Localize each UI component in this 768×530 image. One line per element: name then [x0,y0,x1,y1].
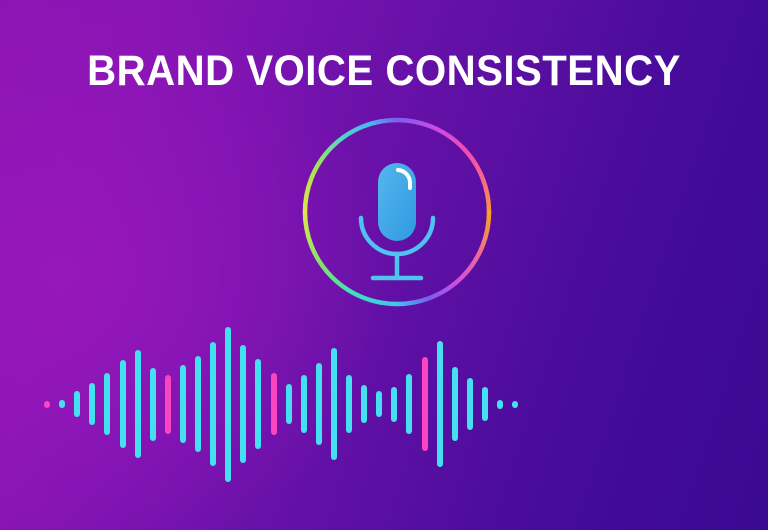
waveform-bar [437,341,443,467]
waveform-bar [422,357,428,451]
waveform-bar [44,401,50,408]
mic-badge [303,118,491,306]
waveform-bar [391,387,397,422]
waveform-bar [195,356,201,452]
waveform-bar [301,375,307,433]
waveform-bar [452,367,458,441]
waveform-bar [240,345,246,463]
waveform-bar [120,360,126,448]
waveform-bar [210,342,216,466]
poster-canvas: BRAND VOICE CONSISTENCY [0,0,768,530]
waveform-bar [497,400,503,409]
waveform-bar [165,375,171,434]
waveform-bar [331,348,337,460]
waveform-bar [74,391,80,417]
waveform-bar [255,359,261,449]
page-title: BRAND VOICE CONSISTENCY [25,47,743,95]
waveform-bar [150,368,156,441]
waveform-bar [406,374,412,434]
microphone-icon [378,163,416,241]
waveform-bar [512,401,518,408]
waveform-bar [59,400,65,408]
waveform-bar [376,391,382,417]
waveform-bar [286,384,292,424]
waveform-bar [467,378,473,430]
waveform-bar [271,373,277,435]
waveform-bar [135,350,141,458]
waveform-bar [361,385,367,423]
waveform-bar [104,373,110,435]
waveform-bar [180,365,186,443]
waveform-bar [316,363,322,445]
waveform-bar [225,327,231,482]
waveform-bar [89,383,95,425]
waveform-bar [346,375,352,433]
waveform-bar [482,387,488,421]
